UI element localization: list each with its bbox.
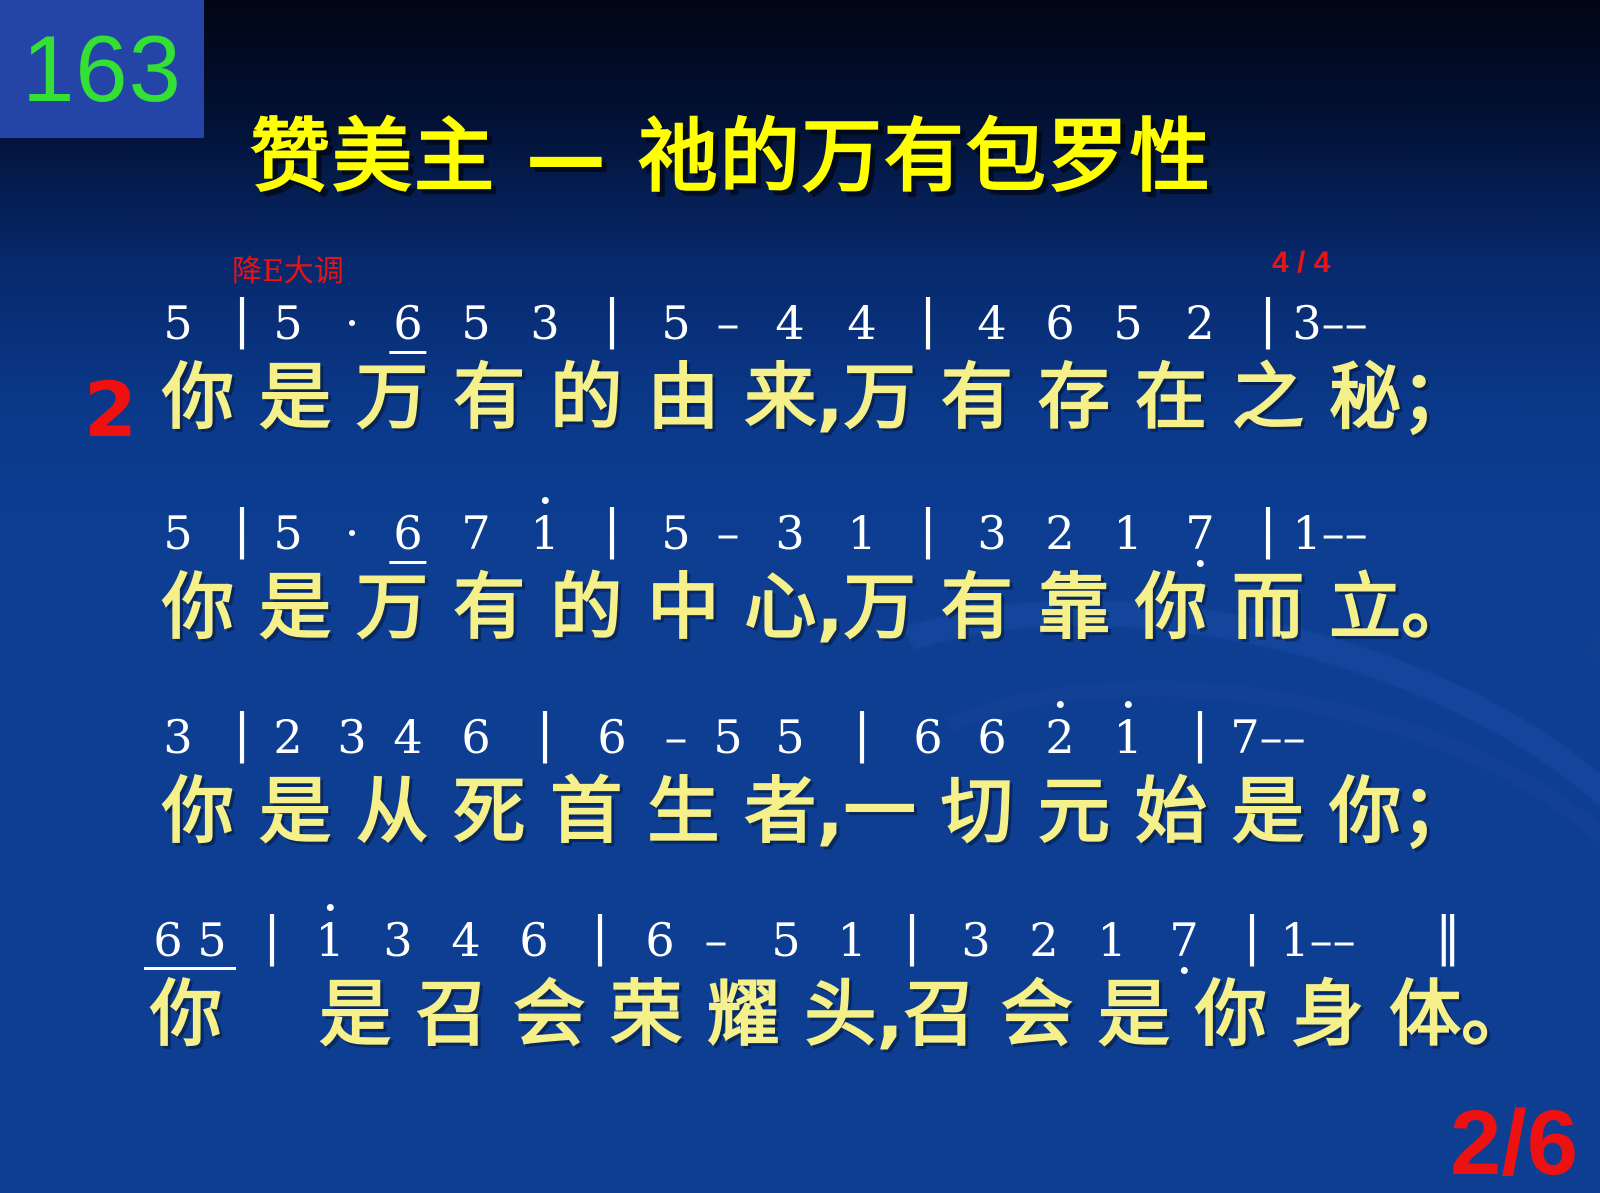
- music-system-2: 5|5·671|5–31|3217|1–– 你 是 万 有 的 中 心,万 有 …: [0, 508, 1600, 646]
- note-2: 2: [1185, 300, 1214, 346]
- music-system-1: 5|5·653|5–44|4652|3–– 你 是 万 有 的 由 来,万 有 …: [0, 298, 1600, 436]
- note-6: 6: [977, 714, 1006, 760]
- barline: |: [233, 708, 251, 760]
- note-4: 4: [393, 714, 422, 760]
- note-4: 4: [847, 300, 876, 346]
- barline: |: [591, 911, 609, 963]
- page-indicator: 2/6: [1450, 1097, 1578, 1189]
- note-5: 5: [461, 300, 490, 346]
- barline: |: [263, 911, 281, 963]
- note-6: 6: [153, 917, 182, 963]
- note-1: 1: [1097, 917, 1126, 963]
- note-5: 5: [661, 510, 690, 556]
- barline: |: [1259, 504, 1277, 556]
- time-signature: 4 / 4: [1272, 246, 1330, 280]
- note-–: –: [717, 300, 740, 346]
- octave-dot-high: [1125, 701, 1132, 708]
- note-3: 3: [337, 714, 366, 760]
- octave-dot-high: [1057, 701, 1064, 708]
- note-7––: 7––: [1230, 714, 1305, 760]
- barline: |: [853, 708, 871, 760]
- lyric-row: 你 是 万 有 的 中 心,万 有 靠 你 而 立。: [0, 570, 1600, 646]
- barline: |: [233, 504, 251, 556]
- barline: |: [1243, 911, 1261, 963]
- note-6: 6: [597, 714, 626, 760]
- lyric-row: 你 是 万 有 的 由 来,万 有 存 在 之 秘；: [0, 360, 1600, 436]
- note-3: 3: [977, 510, 1006, 556]
- barline: |: [603, 504, 621, 556]
- barline: |: [903, 911, 921, 963]
- note-1––: 1––: [1292, 510, 1367, 556]
- note-7: 7: [461, 510, 490, 556]
- barline: |: [919, 294, 937, 346]
- note-1: 1: [837, 917, 866, 963]
- note-6: 6: [645, 917, 674, 963]
- barline: ‖: [1435, 911, 1461, 963]
- note-3: 3: [383, 917, 412, 963]
- note-3: 3: [961, 917, 990, 963]
- note-1: 1: [315, 917, 344, 963]
- barline: |: [603, 294, 621, 346]
- note-2: 2: [273, 714, 302, 760]
- octave-dot-high: [542, 497, 549, 504]
- note-7: 7: [1169, 917, 1198, 963]
- note-3: 3: [163, 714, 192, 760]
- note-2: 2: [1029, 917, 1058, 963]
- note-·: ·: [345, 300, 360, 346]
- note-1: 1: [847, 510, 876, 556]
- note-1: 1: [1113, 714, 1142, 760]
- barline: |: [919, 504, 937, 556]
- lyric-row: 你 是 从 死 首 生 者,一 切 元 始 是 你；: [0, 774, 1600, 850]
- note-1: 1: [1113, 510, 1142, 556]
- note-4: 4: [451, 917, 480, 963]
- barline: |: [1259, 294, 1277, 346]
- notation-row: 3|2346|6–55|6621|7––: [0, 712, 1600, 774]
- note-6: 6: [519, 917, 548, 963]
- note-4: 4: [977, 300, 1006, 346]
- note-5: 5: [273, 300, 302, 346]
- note-5: 5: [163, 300, 192, 346]
- note-6: 6: [913, 714, 942, 760]
- music-system-4: 65|1346|6–51|3217|1––‖ 你 是 召 会 荣 耀 头,召 会…: [0, 915, 1600, 1053]
- note-2: 2: [1045, 714, 1074, 760]
- music-system-3: 3|2346|6–55|6621|7–– 你 是 从 死 首 生 者,一 切 元…: [0, 712, 1600, 850]
- barline: |: [1191, 708, 1209, 760]
- barline: |: [536, 708, 554, 760]
- note-·: ·: [345, 510, 360, 556]
- barline: |: [233, 294, 251, 346]
- note-5: 5: [661, 300, 690, 346]
- note-–: –: [665, 714, 688, 760]
- note-5: 5: [273, 510, 302, 556]
- note-–: –: [705, 917, 728, 963]
- note-6: 6: [393, 510, 422, 556]
- note-3––: 3––: [1292, 300, 1367, 346]
- note-3: 3: [775, 510, 804, 556]
- note-5: 5: [197, 917, 226, 963]
- notation-row: 65|1346|6–51|3217|1––‖: [0, 915, 1600, 977]
- note-1: 1: [530, 510, 559, 556]
- note-1––: 1––: [1280, 917, 1355, 963]
- page-title: 赞美主 — 祂的万有包罗性: [250, 92, 1480, 208]
- note-7: 7: [1185, 510, 1214, 556]
- hymn-number: 163: [22, 22, 182, 116]
- hymn-number-badge: 163: [0, 0, 204, 138]
- octave-dot-high: [327, 904, 334, 911]
- key-signature: 降E大调: [232, 246, 344, 290]
- note-5: 5: [771, 917, 800, 963]
- lyric-row: 你 是 召 会 荣 耀 头,召 会 是 你 身 体。: [0, 977, 1600, 1053]
- note-3: 3: [530, 300, 559, 346]
- note-6: 6: [1045, 300, 1074, 346]
- beam-line: [144, 967, 236, 970]
- notation-row: 5|5·671|5–31|3217|1––: [0, 508, 1600, 570]
- note-5: 5: [775, 714, 804, 760]
- note-6: 6: [393, 300, 422, 346]
- note-–: –: [717, 510, 740, 556]
- note-6: 6: [461, 714, 490, 760]
- note-4: 4: [775, 300, 804, 346]
- hymn-slide: 163 赞美主 — 祂的万有包罗性 降E大调 4 / 4 2 5|5·653|5…: [0, 0, 1600, 1193]
- note-5: 5: [713, 714, 742, 760]
- note-2: 2: [1045, 510, 1074, 556]
- note-5: 5: [163, 510, 192, 556]
- notation-row: 5|5·653|5–44|4652|3––: [0, 298, 1600, 360]
- note-5: 5: [1113, 300, 1142, 346]
